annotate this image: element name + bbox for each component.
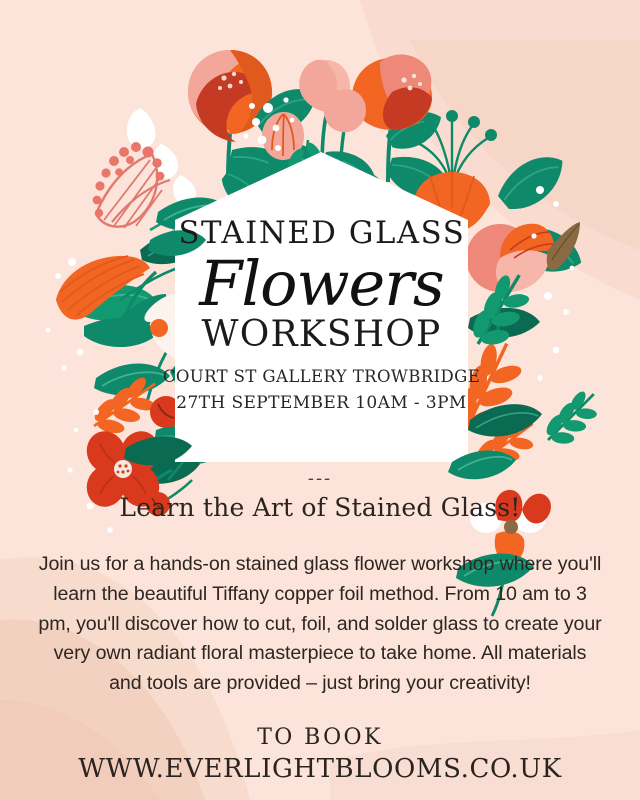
leaf-overlap-left-top (148, 230, 206, 256)
poster-canvas: STAINED GLASS Flowers WORKSHOP COURT ST … (0, 0, 640, 800)
floral-foreground (0, 0, 640, 800)
leaf-overlap-left-bottom (124, 437, 192, 466)
leaf-overlap-right-bottom (448, 451, 516, 480)
